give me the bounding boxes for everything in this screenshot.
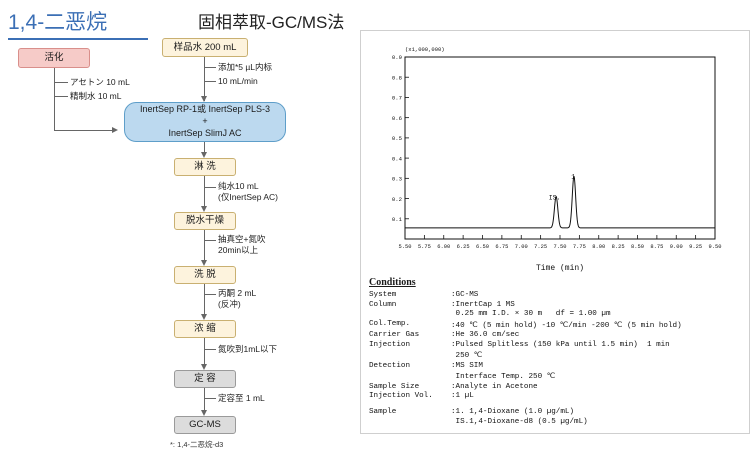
node-elute: 洗 脱 bbox=[174, 266, 236, 284]
conditions-value: Interface Temp. 250 ℃ bbox=[451, 371, 682, 383]
label-elute-detail: 丙酮 2 mL (反冲) bbox=[218, 288, 256, 309]
volume-tick bbox=[204, 398, 216, 399]
flow-diagram: 活化 アセトン 10 mL 精制水 10 mL 样品水 200 mL 添加*5 … bbox=[0, 34, 358, 434]
label-volume-detail: 定容至 1 mL bbox=[218, 393, 265, 404]
y-tick-label: 0.7 bbox=[392, 95, 402, 102]
flowrate-tick bbox=[204, 81, 216, 82]
x-tick-label: 5.75 bbox=[418, 244, 431, 250]
conditions-heading: Conditions bbox=[369, 277, 743, 288]
conditions-key: Sample Size bbox=[369, 383, 451, 393]
label-concentrate-detail: 氮吹到1mL以下 bbox=[218, 344, 277, 355]
conditions-row: Interface Temp. 250 ℃ bbox=[369, 371, 682, 383]
x-tick-label: 6.50 bbox=[476, 244, 489, 250]
analysis-panel: 0.10.20.30.40.50.60.70.80.9 5.505.756.00… bbox=[360, 30, 750, 434]
dehydrate-stem bbox=[204, 230, 205, 264]
node-cartridge: InertSep RP-1或 InertSep PLS-3 + InertSep… bbox=[124, 102, 286, 142]
label-flow-rate: 10 mL/min bbox=[218, 76, 258, 87]
x-tick-label: 6.75 bbox=[495, 244, 508, 250]
purewater-tick bbox=[54, 96, 68, 97]
label-acetone: アセトン 10 mL bbox=[70, 77, 130, 88]
x-tick-label: 7.25 bbox=[534, 244, 547, 250]
conditions-key: Column bbox=[369, 301, 451, 311]
y-tick-label: 0.1 bbox=[392, 216, 403, 223]
page-subtitle: 固相萃取-GC/MS法 bbox=[198, 8, 344, 33]
x-tick-label: 8.50 bbox=[631, 244, 644, 250]
conditions-value: 0.25 mm I.D. × 30 m df = 1.00 µm bbox=[451, 310, 682, 320]
page-root: 1,4-二恶烷 固相萃取-GC/MS法 活化 アセトン 10 mL 精制水 10… bbox=[0, 0, 750, 434]
conditions-key bbox=[369, 418, 451, 428]
y-tick-label: 0.8 bbox=[392, 74, 402, 81]
conditions-block: Conditions System:GC-MSColumn:InertCap 1… bbox=[369, 277, 743, 427]
node-rinse: 淋 洗 bbox=[174, 158, 236, 176]
x-tick-label: 5.50 bbox=[399, 244, 412, 250]
rinse-tick bbox=[204, 187, 216, 188]
conditions-key: Detection bbox=[369, 362, 451, 372]
conditions-row: System:GC-MS bbox=[369, 291, 682, 301]
conditions-value: :Pulsed Splitless (150 kPa until 1.5 min… bbox=[451, 341, 682, 351]
dehydrate-tick bbox=[204, 240, 216, 241]
chromatogram-svg: 0.10.20.30.40.50.60.70.80.9 5.505.756.00… bbox=[367, 37, 741, 277]
svg-text:Time (min): Time (min) bbox=[536, 264, 584, 273]
conditions-value: :GC-MS bbox=[451, 291, 682, 301]
x-tick-label: 7.00 bbox=[515, 244, 528, 250]
peak-annotation: 1 bbox=[571, 173, 575, 180]
conditions-row: Column:InertCap 1 MS bbox=[369, 301, 682, 311]
node-activation-label: 活化 bbox=[44, 52, 63, 64]
conditions-value: :He 36.0 cm/sec bbox=[451, 331, 682, 341]
conditions-value: :40 ℃ (5 min hold) -10 ℃/min -200 ℃ (5 m… bbox=[451, 320, 682, 332]
node-constant-volume: 定 容 bbox=[174, 370, 236, 388]
chromatogram: 0.10.20.30.40.50.60.70.80.9 5.505.756.00… bbox=[367, 37, 741, 277]
activation-arrow-icon bbox=[112, 127, 118, 133]
y-tick-label: 0.4 bbox=[392, 155, 403, 162]
node-elute-label: 洗 脱 bbox=[194, 269, 216, 281]
conditions-key: Injection bbox=[369, 341, 451, 351]
conditions-key: Sample bbox=[369, 408, 451, 418]
node-cartridge-label: InertSep RP-1或 InertSep PLS-3 + InertSep… bbox=[140, 104, 270, 139]
activation-stem bbox=[54, 68, 55, 130]
conditions-key bbox=[369, 350, 451, 362]
y-tick-label: 0.3 bbox=[392, 176, 402, 183]
conditions-table: System:GC-MSColumn:InertCap 1 MS 0.25 mm… bbox=[369, 291, 682, 427]
node-activation: 活化 bbox=[18, 48, 90, 68]
y-tick-label: 0.5 bbox=[392, 135, 402, 142]
conditions-key: Injection Vol. bbox=[369, 392, 451, 402]
node-constant-volume-label: 定 容 bbox=[194, 373, 216, 385]
conditions-key: System bbox=[369, 291, 451, 301]
conditions-value: 250 ℃ bbox=[451, 350, 682, 362]
conditions-row: Injection Vol.:1 µL bbox=[369, 392, 682, 402]
node-concentrate: 浓 缩 bbox=[174, 320, 236, 338]
label-internal-std: 添加*5 µL内标 bbox=[218, 62, 272, 73]
x-tick-label: 6.25 bbox=[457, 244, 470, 250]
label-rinse-detail: 纯水10 mL (仅InertSep AC) bbox=[218, 181, 278, 202]
x-tick-label: 9.00 bbox=[670, 244, 683, 250]
conditions-row: Detection:MS SIM bbox=[369, 362, 682, 372]
conditions-value: :1. 1,4-Dioxane (1.0 µg/mL) bbox=[451, 408, 682, 418]
istd-tick bbox=[204, 67, 216, 68]
node-gcms-label: GC-MS bbox=[189, 419, 221, 431]
conditions-key: Col.Temp. bbox=[369, 320, 451, 332]
conditions-value: :Analyte in Acetone bbox=[451, 383, 682, 393]
conditions-key: Carrier Gas bbox=[369, 331, 451, 341]
node-sample-water-label: 样品水 200 mL bbox=[174, 42, 237, 54]
acetone-tick bbox=[54, 82, 68, 83]
conditions-row: Sample Size:Analyte in Acetone bbox=[369, 383, 682, 393]
conditions-key bbox=[369, 371, 451, 383]
svg-text:(x1,000,000): (x1,000,000) bbox=[405, 46, 445, 53]
conditions-row: IS.1,4-Dioxane-d8 (0.5 µg/mL) bbox=[369, 418, 682, 428]
conditions-value: :MS SIM bbox=[451, 362, 682, 372]
x-tick-label: 8.25 bbox=[612, 244, 625, 250]
flow-footnote: *: 1,4-二恶烷-d3 bbox=[170, 439, 223, 450]
y-tick-label: 0.9 bbox=[392, 54, 402, 61]
elute-stem bbox=[204, 284, 205, 318]
elute-tick bbox=[204, 294, 216, 295]
label-pure-water: 精制水 10 mL bbox=[70, 91, 122, 102]
conditions-row: Col.Temp.:40 ℃ (5 min hold) -10 ℃/min -2… bbox=[369, 320, 682, 332]
y-tick-label: 0.2 bbox=[392, 196, 402, 203]
x-tick-label: 9.25 bbox=[689, 244, 702, 250]
x-tick-label: 8.75 bbox=[650, 244, 663, 250]
x-tick-label: 6.00 bbox=[437, 244, 450, 250]
activation-elbow bbox=[54, 130, 114, 131]
conditions-value: IS.1,4-Dioxane-d8 (0.5 µg/mL) bbox=[451, 418, 682, 428]
sample-stem bbox=[204, 57, 205, 101]
node-concentrate-label: 浓 缩 bbox=[194, 323, 216, 335]
x-tick-label: 8.00 bbox=[592, 244, 605, 250]
conditions-value: :InertCap 1 MS bbox=[451, 301, 682, 311]
conditions-row: 250 ℃ bbox=[369, 350, 682, 362]
conditions-row: Sample:1. 1,4-Dioxane (1.0 µg/mL) bbox=[369, 408, 682, 418]
node-dehydrate: 脱水干燥 bbox=[174, 212, 236, 230]
x-tick-label: 7.75 bbox=[573, 244, 586, 250]
x-tick-label: 7.50 bbox=[554, 244, 567, 250]
node-gcms: GC-MS bbox=[174, 416, 236, 434]
label-dehydrate-detail: 抽真空+氮吹 20min以上 bbox=[218, 234, 265, 255]
conditions-row: Injection:Pulsed Splitless (150 kPa unti… bbox=[369, 341, 682, 351]
node-dehydrate-label: 脱水干燥 bbox=[186, 215, 224, 227]
node-rinse-label: 淋 洗 bbox=[194, 161, 216, 173]
conditions-value: :1 µL bbox=[451, 392, 682, 402]
peak-annotation: IS. bbox=[549, 195, 561, 202]
conditions-key bbox=[369, 310, 451, 320]
x-tick-label: 9.50 bbox=[709, 244, 722, 250]
concentrate-tick bbox=[204, 349, 216, 350]
node-sample-water: 样品水 200 mL bbox=[162, 38, 248, 57]
y-tick-label: 0.6 bbox=[392, 115, 402, 122]
conditions-row: 0.25 mm I.D. × 30 m df = 1.00 µm bbox=[369, 310, 682, 320]
rinse-stem bbox=[204, 176, 205, 210]
conditions-row: Carrier Gas:He 36.0 cm/sec bbox=[369, 331, 682, 341]
